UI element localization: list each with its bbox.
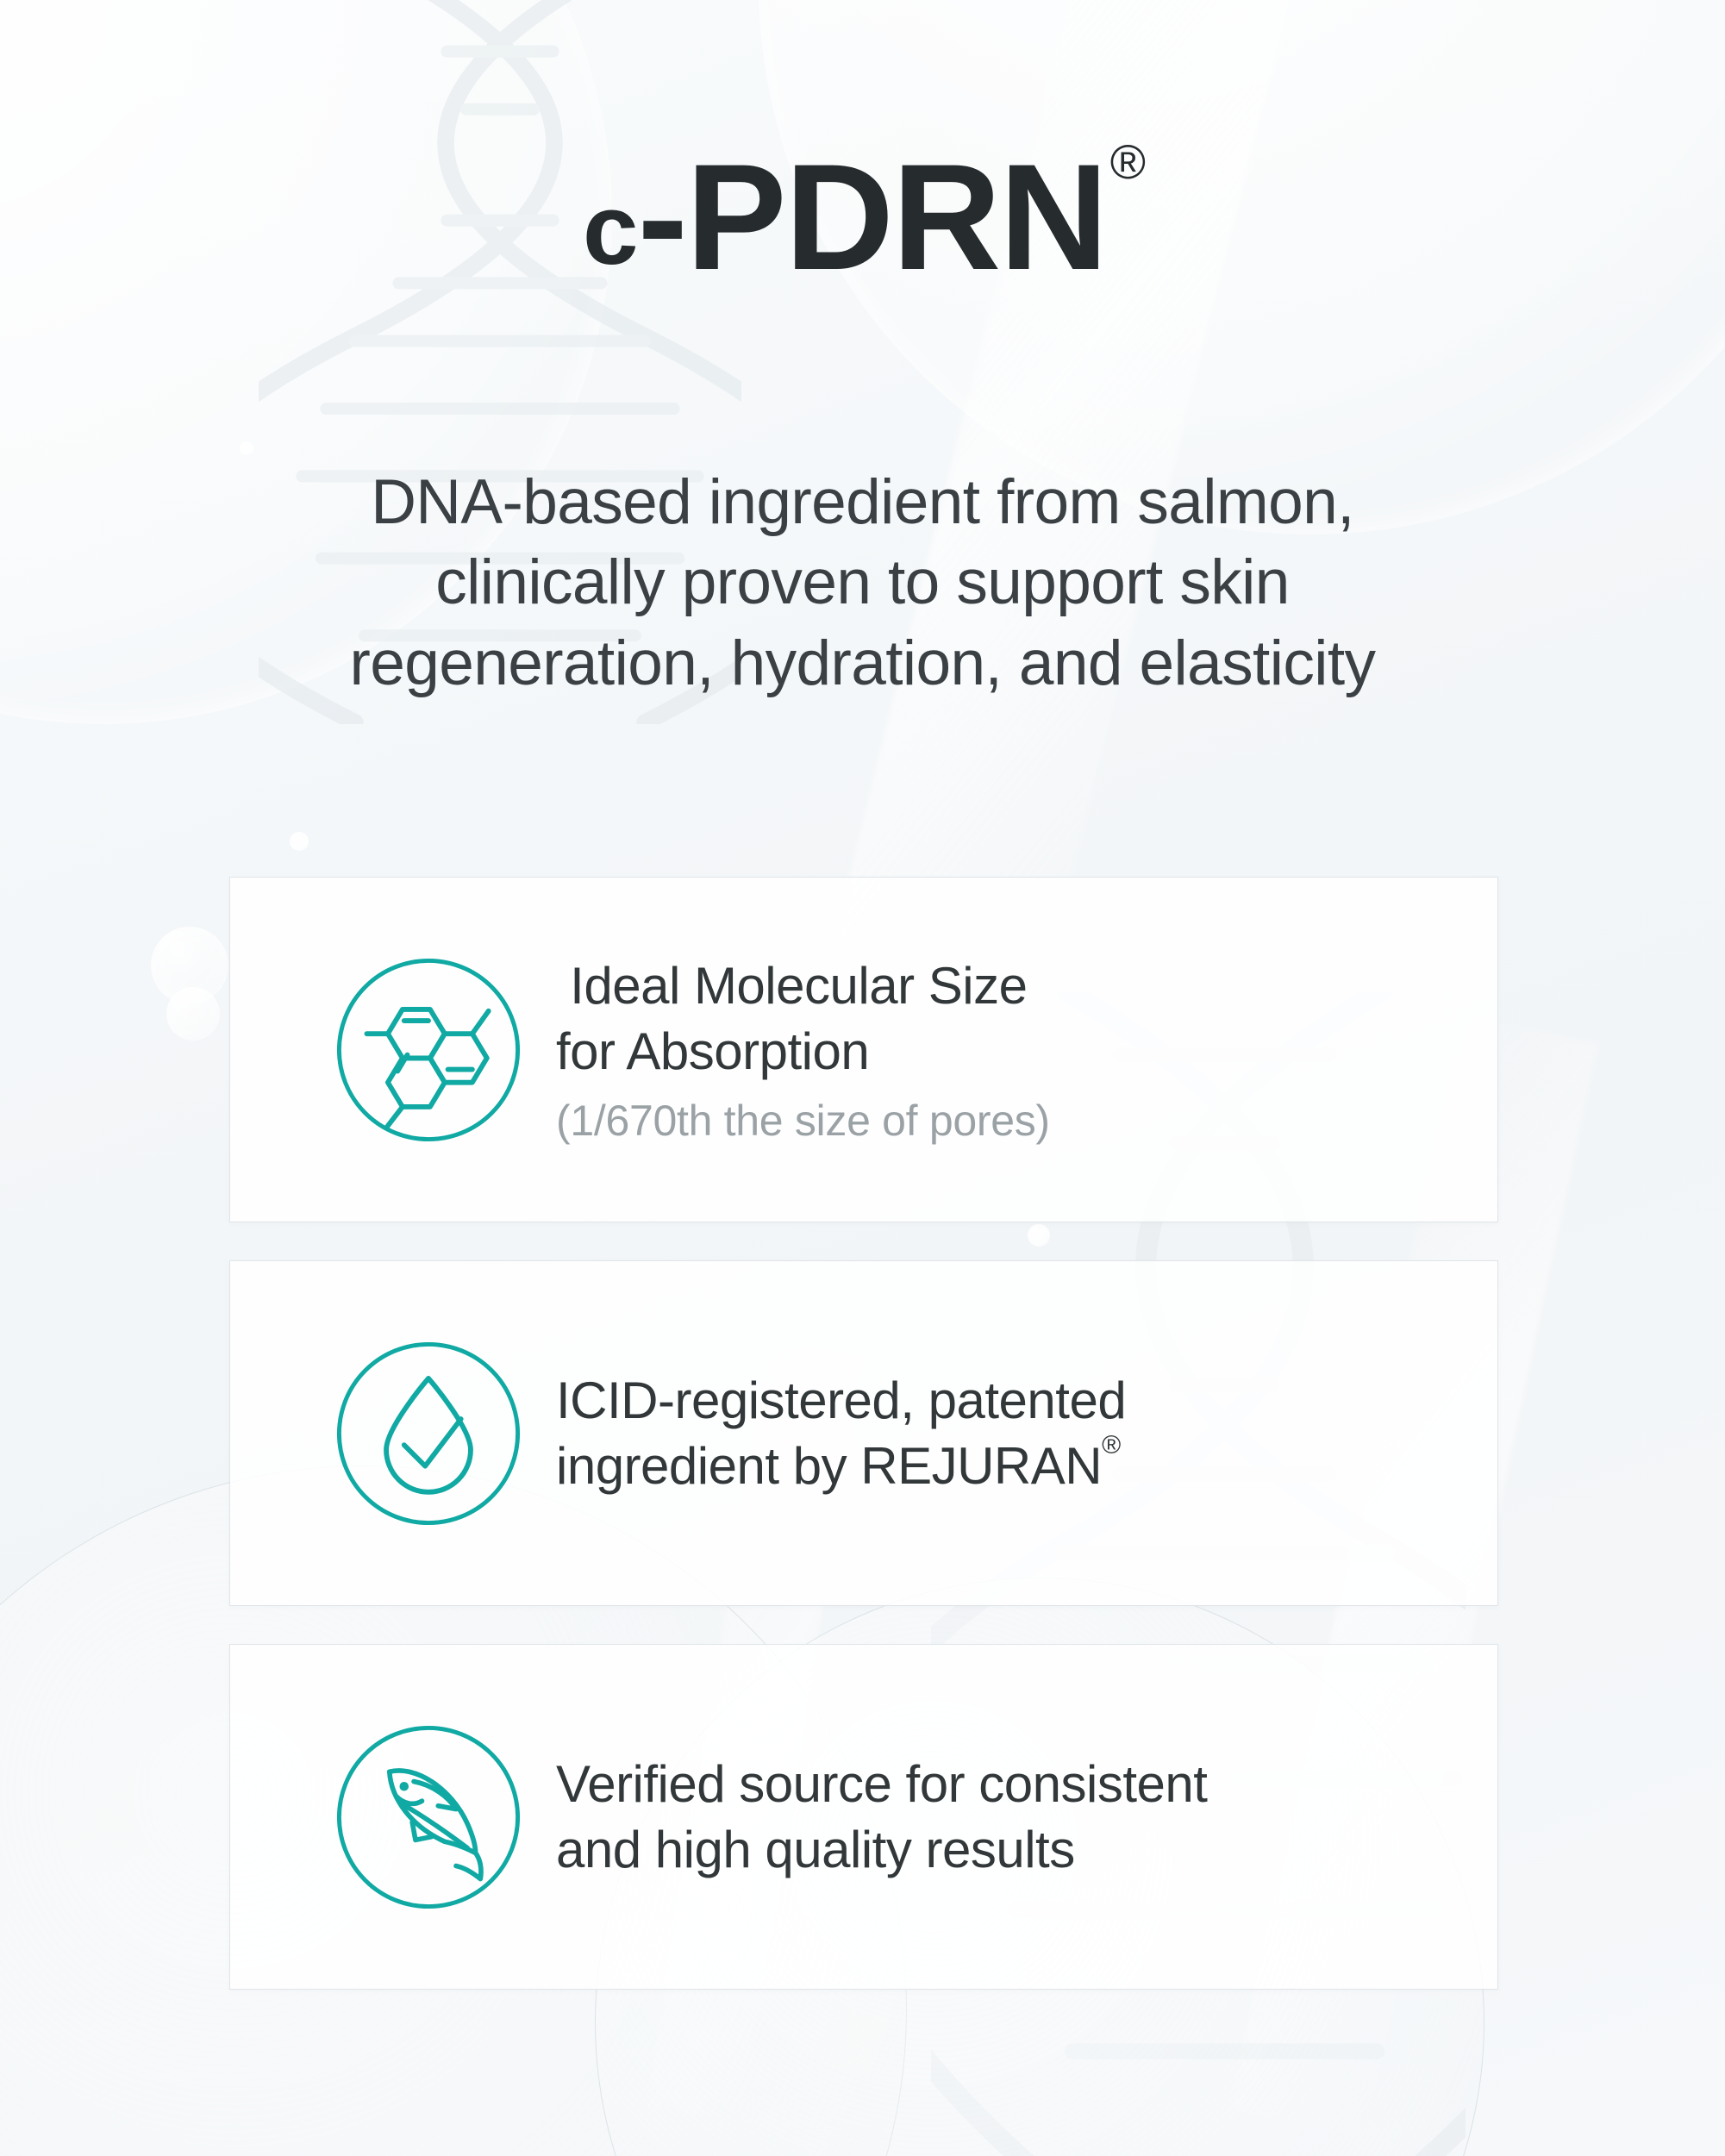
registered-trademark-symbol: ® bbox=[1110, 134, 1146, 189]
water-drop-check-icon bbox=[331, 1336, 526, 1531]
feature-card-icid-registered[interactable]: ICID-registered, patented ingredient by … bbox=[229, 1260, 1498, 1606]
feature-title-line-2: ingredient by REJURAN® bbox=[556, 1434, 1497, 1499]
feature-title-line-1: ICID-registered, patented bbox=[556, 1368, 1497, 1434]
promo-page: c-PDRN® DNA-based ingredient from salmon… bbox=[0, 0, 1725, 2156]
fish-icon bbox=[331, 1720, 526, 1915]
feature-text-wrapper: Ideal Molecular Size for Absorption (1/6… bbox=[532, 953, 1497, 1146]
page-title: c-PDRN® bbox=[0, 142, 1725, 293]
feature-text-wrapper: Verified source for consistent and high … bbox=[532, 1752, 1497, 1882]
feature-title-line-1: Verified source for consistent bbox=[556, 1752, 1497, 1817]
feature-note: (1/670th the size of pores) bbox=[556, 1096, 1497, 1146]
page-title-main: -PDRN bbox=[638, 134, 1107, 302]
feature-icon-wrapper bbox=[325, 953, 532, 1147]
page-subtitle: DNA-based ingredient from salmon, clinic… bbox=[0, 462, 1725, 703]
registered-trademark-symbol: ® bbox=[1102, 1431, 1121, 1459]
feature-title-line-2-text: ingredient by REJURAN bbox=[556, 1437, 1102, 1495]
page-title-lead: c bbox=[583, 173, 638, 285]
page-content: c-PDRN® DNA-based ingredient from salmon… bbox=[0, 0, 1725, 2156]
subtitle-line-3: regeneration, hydration, and elasticity bbox=[0, 623, 1725, 703]
feature-text-wrapper: ICID-registered, patented ingredient by … bbox=[532, 1368, 1497, 1498]
molecule-icon bbox=[331, 953, 526, 1147]
feature-icon-wrapper bbox=[325, 1720, 532, 1915]
feature-title-line-1: Ideal Molecular Size bbox=[556, 953, 1497, 1019]
feature-icon-wrapper bbox=[325, 1336, 532, 1531]
feature-card-verified-source[interactable]: Verified source for consistent and high … bbox=[229, 1644, 1498, 1990]
feature-card-molecular-size[interactable]: Ideal Molecular Size for Absorption (1/6… bbox=[229, 877, 1498, 1222]
subtitle-line-2: clinically proven to support skin bbox=[0, 542, 1725, 622]
feature-card-list: Ideal Molecular Size for Absorption (1/6… bbox=[229, 877, 1498, 1990]
feature-title-line-2: for Absorption bbox=[556, 1019, 1497, 1084]
subtitle-line-1: DNA-based ingredient from salmon, bbox=[0, 462, 1725, 542]
feature-title-line-2: and high quality results bbox=[556, 1817, 1497, 1883]
